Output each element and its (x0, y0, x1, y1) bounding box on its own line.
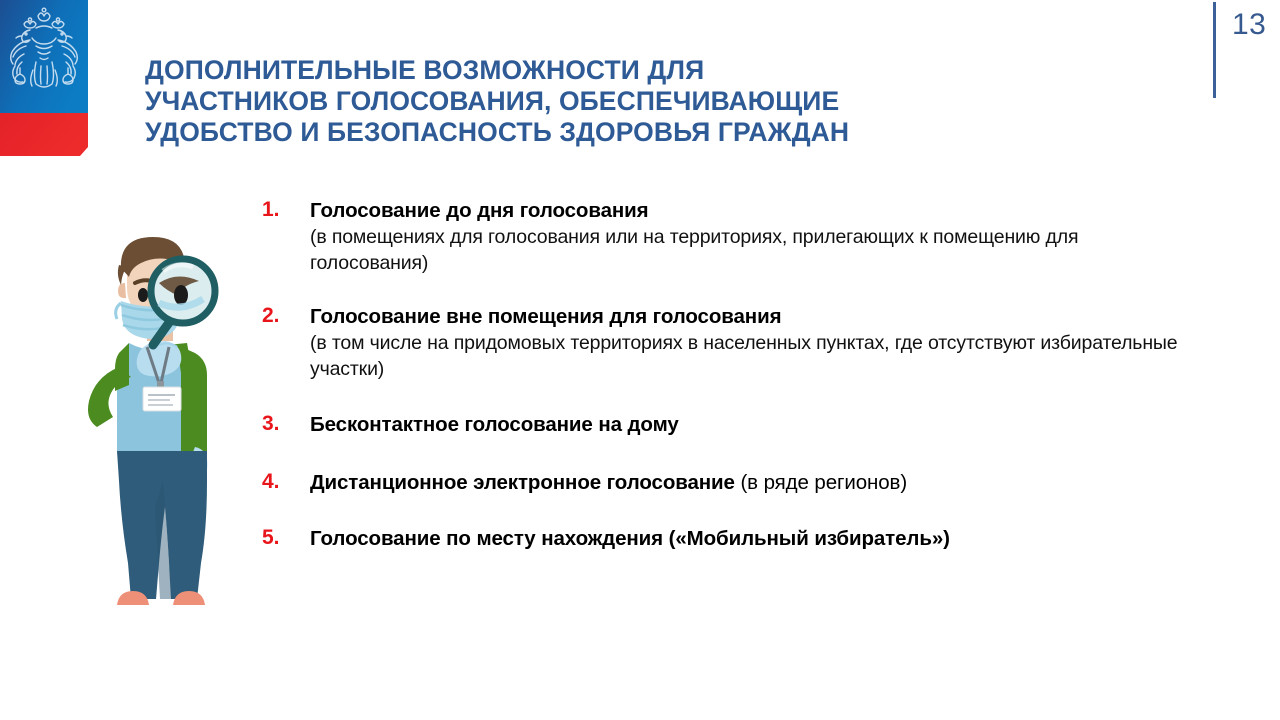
list-item[interactable]: 3. Бесконтактное голосование на дому (258, 412, 1208, 438)
list-item[interactable]: 2. Голосование вне помещения для голосов… (258, 304, 1208, 382)
list-item-heading-tail: (в ряде регионов) (735, 471, 907, 494)
list-item-heading: Голосование по месту нахождения («Мобиль… (310, 526, 1208, 552)
masked-man-with-magnifier-illustration (55, 225, 270, 625)
list-item-heading: Голосование вне помещения для голосовани… (310, 304, 1208, 330)
options-list: 1. Голосование до дня голосования (в пом… (258, 198, 1208, 572)
page-number: 13 (1232, 8, 1266, 42)
list-item-heading: Дистанционное электронное голосование (в… (310, 470, 1208, 496)
page-number-divider (1213, 2, 1216, 98)
list-item-number: 3. (262, 412, 280, 436)
list-item[interactable]: 5. Голосование по месту нахождения («Моб… (258, 526, 1208, 552)
cik-russia-emblem (0, 0, 94, 162)
list-item[interactable]: 1. Голосование до дня голосования (в пом… (258, 198, 1208, 276)
page-title: ДОПОЛНИТЕЛЬНЫЕ ВОЗМОЖНОСТИ ДЛЯ УЧАСТНИКО… (145, 55, 1045, 148)
list-item-heading: Бесконтактное голосование на дому (310, 412, 1208, 438)
page-title-line-2: УЧАСТНИКОВ ГОЛОСОВАНИЯ, ОБЕСПЕЧИВАЮЩИЕ (145, 86, 1045, 117)
list-item[interactable]: 4. Дистанционное электронное голосование… (258, 470, 1208, 496)
list-item-subtext: (в помещениях для голосования или на тер… (310, 224, 1180, 276)
page-title-line-1: ДОПОЛНИТЕЛЬНЫЕ ВОЗМОЖНОСТИ ДЛЯ (145, 55, 1045, 86)
list-item-number: 4. (262, 470, 280, 494)
page-title-line-3: УДОБСТВО И БЕЗОПАСНОСТЬ ЗДОРОВЬЯ ГРАЖДАН (145, 117, 1045, 148)
list-item-heading-main: Дистанционное электронное голосование (310, 471, 735, 494)
list-item-number: 5. (262, 526, 280, 550)
list-item-subtext: (в том числе на придомовых территориях в… (310, 330, 1180, 382)
list-item-number: 2. (262, 304, 280, 328)
list-item-heading: Голосование до дня голосования (310, 198, 1208, 224)
list-item-number: 1. (262, 198, 280, 222)
